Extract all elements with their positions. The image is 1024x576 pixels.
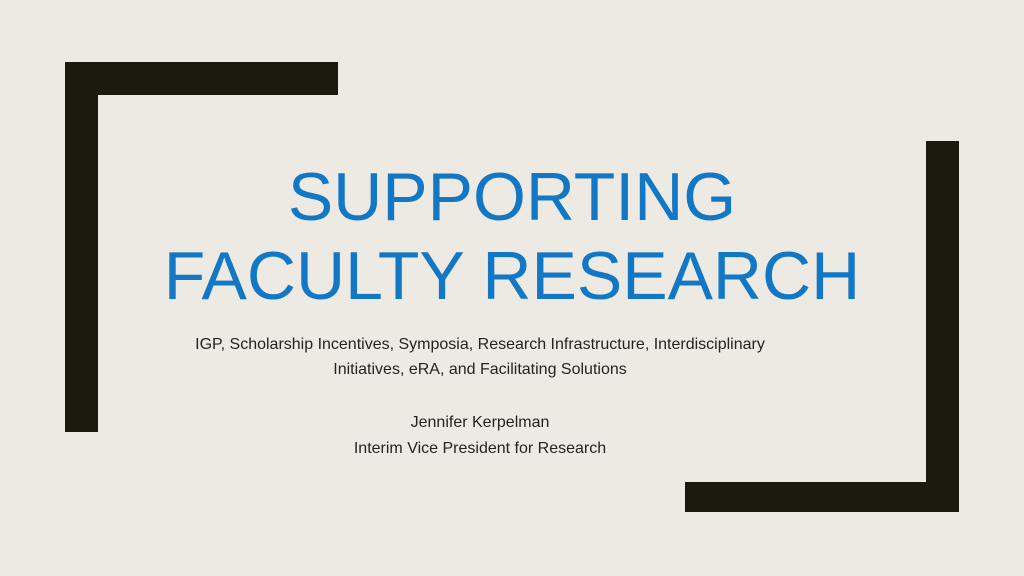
presenter-info: Jennifer Kerpelman Interim Vice Presiden… [0, 410, 960, 462]
slide-title-line-2: FACULTY RESEARCH [0, 237, 1024, 316]
slide-title: SUPPORTING FACULTY RESEARCH [0, 158, 1024, 316]
slide-subtitle-line-2: Initiatives, eRA, and Facilitating Solut… [0, 357, 960, 382]
corner-bracket-bottom-right-horizontal-bar [685, 482, 959, 512]
corner-bracket-top-left-horizontal-bar [65, 62, 338, 95]
presenter-name: Jennifer Kerpelman [0, 410, 960, 436]
presenter-role: Interim Vice President for Research [0, 436, 960, 462]
slide-title-line-1: SUPPORTING [0, 158, 1024, 237]
slide-subtitle-line-1: IGP, Scholarship Incentives, Symposia, R… [0, 332, 960, 357]
slide-subtitle: IGP, Scholarship Incentives, Symposia, R… [0, 332, 960, 382]
presentation-slide: SUPPORTING FACULTY RESEARCH IGP, Scholar… [0, 0, 1024, 576]
